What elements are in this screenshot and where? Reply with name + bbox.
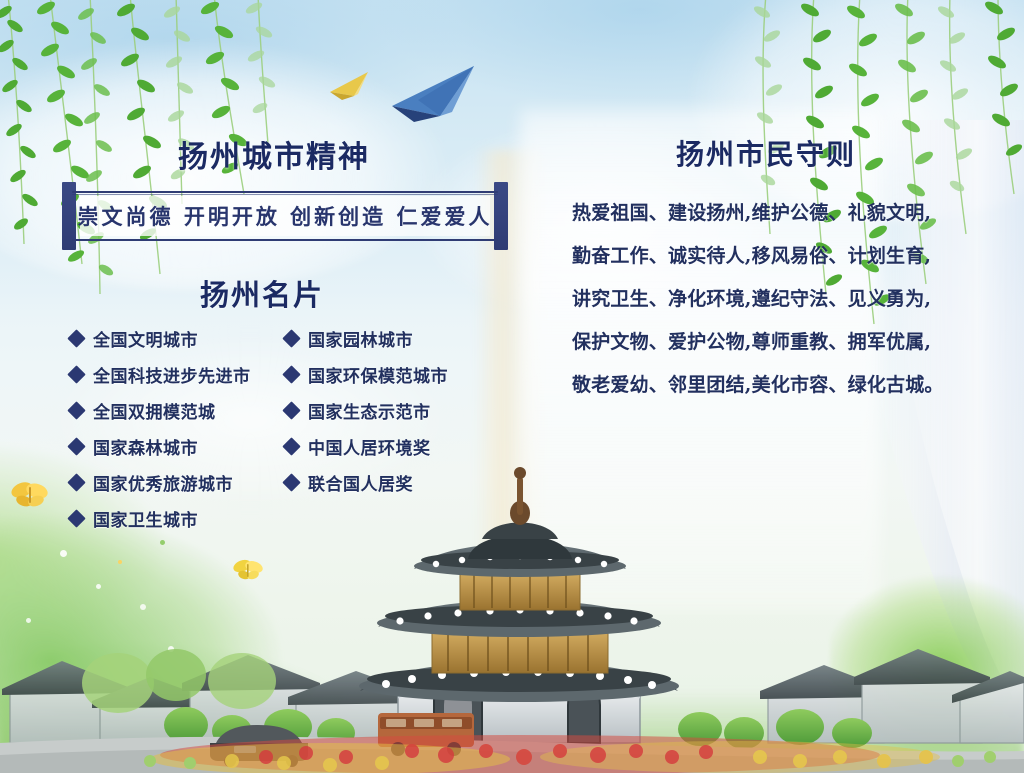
list-item: 国家环保模范城市 (285, 356, 490, 392)
list-item-label: 全国双拥模范城 (93, 398, 216, 423)
list-item: 联合国人居奖 (285, 464, 490, 500)
list-item-label: 国家卫生城市 (93, 506, 198, 531)
car-illustration (210, 725, 308, 767)
list-item-label: 国家环保模范城市 (308, 362, 448, 387)
section-title-city-cards: 扬州名片 (200, 272, 324, 314)
list-item-label: 全国科技进步先进市 (93, 362, 251, 387)
speckle-dot (26, 618, 31, 623)
list-item-label: 中国人居环境奖 (308, 434, 431, 459)
rule-line: 讲究卫生、净化环境,遵纪守法、见义勇为, (572, 278, 980, 321)
grass-wash-base (0, 690, 1024, 773)
rule-line: 热爱祖国、建设扬州,维护公德、礼貌文明, (572, 192, 980, 235)
paper-plane-icon (328, 70, 370, 104)
diamond-bullet-icon (282, 437, 300, 455)
pagoda-illustration (359, 467, 679, 743)
rule-line: 保护文物、爱护公物,尊师重教、拥军优属, (572, 321, 980, 364)
citizen-rules-body: 热爱祖国、建设扬州,维护公德、礼貌文明, 勤奋工作、诚实待人,移风易俗、计划生育… (572, 192, 980, 407)
speckle-dot (96, 584, 101, 589)
city-spirit-slogan-plate: 崇文尚德 开明开放 创新创造 仁爱爱人 (80, 196, 490, 236)
list-item-label: 联合国人居奖 (308, 470, 413, 495)
frame-rule-top-hairline (72, 194, 498, 195)
speckle-dot (60, 550, 67, 557)
list-item: 中国人居环境奖 (285, 428, 490, 464)
list-item: 国家优秀旅游城市 (70, 464, 285, 500)
city-spirit-slogan-frame: 崇文尚德 开明开放 创新创造 仁爱爱人 (62, 182, 508, 250)
diamond-bullet-icon (67, 509, 85, 527)
frame-rule-top (72, 191, 498, 193)
diamond-bullet-icon (282, 365, 300, 383)
diamond-bullet-icon (67, 401, 85, 419)
list-item: 全国双拥模范城 (70, 392, 285, 428)
speckle-dot (118, 560, 122, 564)
frame-rule-bottom (72, 239, 498, 241)
list-item-label: 国家生态示范市 (308, 398, 431, 423)
page-title-city-spirit: 扬州城市精神 (178, 132, 370, 176)
list-item-label: 国家园林城市 (308, 326, 413, 351)
butterfly-icon (10, 480, 50, 510)
diamond-bullet-icon (282, 329, 300, 347)
list-item: 国家卫生城市 (70, 500, 285, 536)
speckle-dot (140, 604, 146, 610)
section-title-citizen-rules: 扬州市民守则 (676, 133, 856, 173)
bus-illustration (378, 713, 474, 756)
speckle-dot (168, 646, 174, 652)
list-item: 全国文明城市 (70, 320, 285, 356)
list-item-label: 国家优秀旅游城市 (93, 470, 233, 495)
paper-plane-icon (388, 62, 480, 124)
list-item: 国家园林城市 (285, 320, 490, 356)
diamond-bullet-icon (282, 401, 300, 419)
city-cards-column-left: 全国文明城市 全国科技进步先进市 全国双拥模范城 国家森林城市 国家优秀旅游城市… (70, 320, 285, 536)
list-item: 国家森林城市 (70, 428, 285, 464)
list-item: 国家生态示范市 (285, 392, 490, 428)
speckle-dot (160, 540, 165, 545)
city-cards-column-right: 国家园林城市 国家环保模范城市 国家生态示范市 中国人居环境奖 联合国人居奖 (285, 320, 490, 500)
cloud-wash-right (690, 0, 1024, 220)
diamond-bullet-icon (67, 473, 85, 491)
poster-canvas: 扬州城市精神 崇文尚德 开明开放 创新创造 仁爱爱人 扬州名片 全国文明城市 全… (0, 0, 1024, 773)
diamond-bullet-icon (282, 473, 300, 491)
diamond-bullet-icon (67, 365, 85, 383)
rule-line: 勤奋工作、诚实待人,移风易俗、计划生育, (572, 235, 980, 278)
rule-line: 敬老爱幼、邻里团结,美化市容、绿化古城。 (572, 364, 980, 407)
diamond-bullet-icon (67, 329, 85, 347)
list-item-label: 国家森林城市 (93, 434, 198, 459)
list-item: 全国科技进步先进市 (70, 356, 285, 392)
grass-wash-right (830, 560, 1024, 773)
list-item-label: 全国文明城市 (93, 326, 198, 351)
diamond-bullet-icon (67, 437, 85, 455)
butterfly-icon (232, 558, 264, 582)
city-spirit-slogan-text: 崇文尚德 开明开放 创新创造 仁爱爱人 (78, 201, 493, 231)
